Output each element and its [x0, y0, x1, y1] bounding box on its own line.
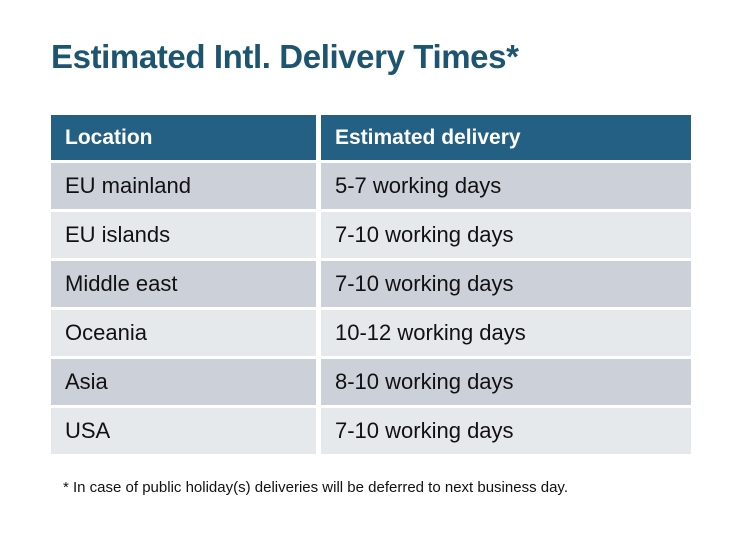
footnote-text: * In case of public holiday(s) deliverie…: [63, 479, 568, 496]
cell-estimated-delivery: 7-10 working days: [321, 212, 691, 258]
table-row: Asia 8-10 working days: [51, 359, 691, 405]
cell-estimated-delivery: 7-10 working days: [321, 408, 691, 454]
cell-location: Oceania: [51, 310, 316, 356]
cell-location: Middle east: [51, 261, 316, 307]
page-title: Estimated Intl. Delivery Times*: [51, 37, 519, 77]
delivery-times-table: Location Estimated delivery EU mainland …: [51, 115, 691, 454]
delivery-times-page: Estimated Intl. Delivery Times* Location…: [0, 0, 745, 536]
cell-estimated-delivery: 8-10 working days: [321, 359, 691, 405]
cell-location: Asia: [51, 359, 316, 405]
table-header-row: Location Estimated delivery: [51, 115, 691, 160]
cell-location: EU mainland: [51, 163, 316, 209]
column-header-estimated-delivery: Estimated delivery: [321, 115, 691, 160]
table-row: Middle east 7-10 working days: [51, 261, 691, 307]
table-row: Oceania 10-12 working days: [51, 310, 691, 356]
cell-estimated-delivery: 10-12 working days: [321, 310, 691, 356]
cell-estimated-delivery: 7-10 working days: [321, 261, 691, 307]
table-row: EU islands 7-10 working days: [51, 212, 691, 258]
column-header-location: Location: [51, 115, 316, 160]
cell-location: USA: [51, 408, 316, 454]
cell-estimated-delivery: 5-7 working days: [321, 163, 691, 209]
cell-location: EU islands: [51, 212, 316, 258]
table-row: USA 7-10 working days: [51, 408, 691, 454]
table-row: EU mainland 5-7 working days: [51, 163, 691, 209]
